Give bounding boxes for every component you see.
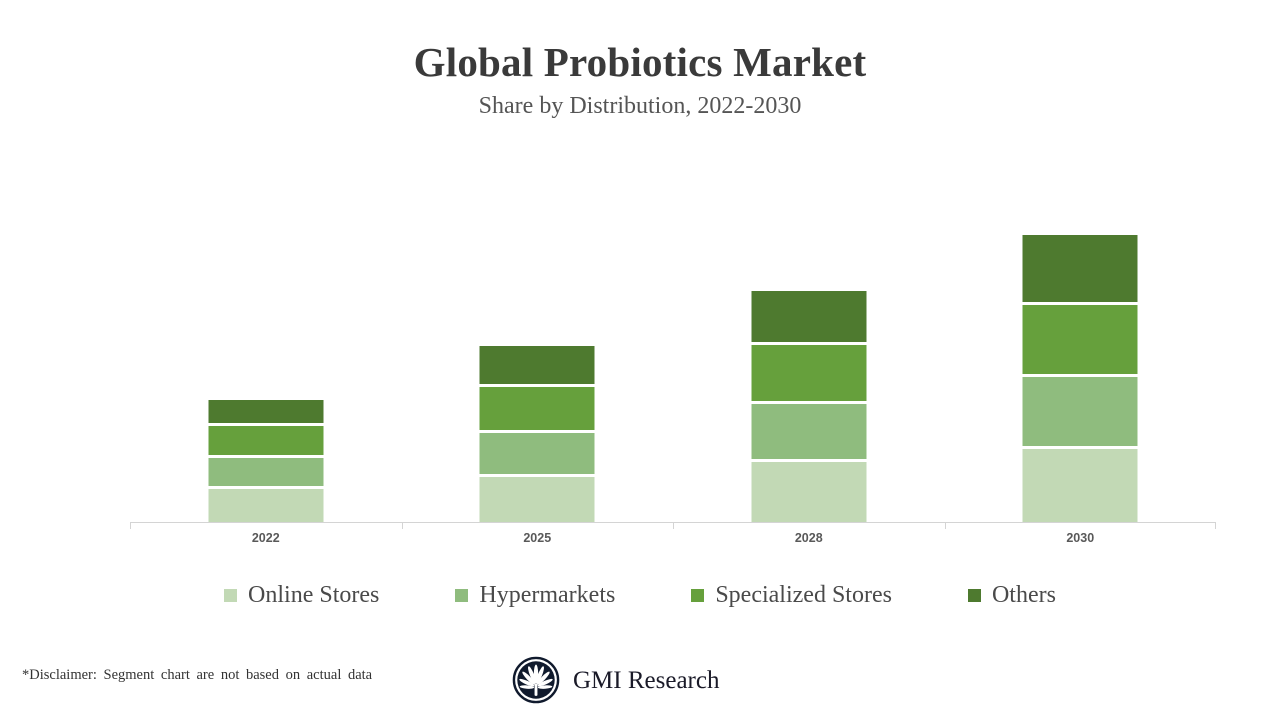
legend-item[interactable]: Online Stores bbox=[224, 583, 379, 607]
page-title: Global Probiotics Market bbox=[0, 40, 1280, 85]
x-axis-label: 2022 bbox=[130, 531, 402, 545]
bar-segment[interactable] bbox=[480, 387, 595, 433]
bar-segment[interactable] bbox=[208, 489, 323, 522]
gmi-palm-logo-icon bbox=[512, 656, 560, 704]
x-axis-labels: 2022202520282030 bbox=[130, 531, 1216, 553]
bar-segment[interactable] bbox=[1023, 235, 1138, 305]
legend-swatch-icon bbox=[455, 589, 468, 602]
axis-tick bbox=[945, 523, 946, 529]
bar-segment[interactable] bbox=[751, 291, 866, 345]
brand-name: GMI Research bbox=[573, 668, 719, 693]
bar-group bbox=[402, 149, 674, 522]
bar-group bbox=[673, 149, 945, 522]
axis-tick bbox=[1215, 523, 1216, 529]
chart-header: Global Probiotics Market Share by Distri… bbox=[0, 40, 1280, 119]
bar-segment[interactable] bbox=[208, 458, 323, 489]
legend-label: Others bbox=[992, 583, 1056, 607]
bar-segment[interactable] bbox=[480, 433, 595, 477]
legend-swatch-icon bbox=[691, 589, 704, 602]
bar-group bbox=[130, 149, 402, 522]
bar-segment[interactable] bbox=[208, 400, 323, 426]
axis-tick bbox=[130, 523, 131, 529]
x-axis-label: 2025 bbox=[402, 531, 674, 545]
chart-legend: Online StoresHypermarketsSpecialized Sto… bbox=[0, 583, 1280, 607]
legend-item[interactable]: Others bbox=[968, 583, 1056, 607]
brand-watermark: GMI Research bbox=[512, 656, 719, 704]
page-subtitle: Share by Distribution, 2022-2030 bbox=[0, 93, 1280, 119]
bar-segment[interactable] bbox=[208, 426, 323, 458]
bar-segment[interactable] bbox=[480, 346, 595, 387]
legend-label: Hypermarkets bbox=[479, 583, 615, 607]
bar-segment[interactable] bbox=[751, 345, 866, 404]
bar-segment[interactable] bbox=[1023, 377, 1138, 449]
x-axis-label: 2030 bbox=[945, 531, 1217, 545]
disclaimer-text: *Disclaimer: Segment chart are not based… bbox=[22, 667, 372, 684]
legend-swatch-icon bbox=[968, 589, 981, 602]
legend-item[interactable]: Specialized Stores bbox=[691, 583, 892, 607]
bar-group bbox=[945, 149, 1217, 522]
legend-item[interactable]: Hypermarkets bbox=[455, 583, 615, 607]
bar-segment[interactable] bbox=[1023, 449, 1138, 522]
bar-segment[interactable] bbox=[751, 462, 866, 522]
bar-segment[interactable] bbox=[480, 477, 595, 522]
axis-tick bbox=[673, 523, 674, 529]
chart-plot-area bbox=[130, 150, 1216, 523]
legend-swatch-icon bbox=[224, 589, 237, 602]
axis-tick bbox=[402, 523, 403, 529]
bar-stack[interactable] bbox=[480, 346, 595, 522]
bar-stack[interactable] bbox=[208, 400, 323, 522]
bar-segment[interactable] bbox=[751, 404, 866, 462]
bar-segment[interactable] bbox=[1023, 305, 1138, 377]
bar-stack[interactable] bbox=[751, 291, 866, 522]
legend-label: Specialized Stores bbox=[715, 583, 892, 607]
bar-stack[interactable] bbox=[1023, 235, 1138, 522]
x-axis-label: 2028 bbox=[673, 531, 945, 545]
legend-label: Online Stores bbox=[248, 583, 379, 607]
